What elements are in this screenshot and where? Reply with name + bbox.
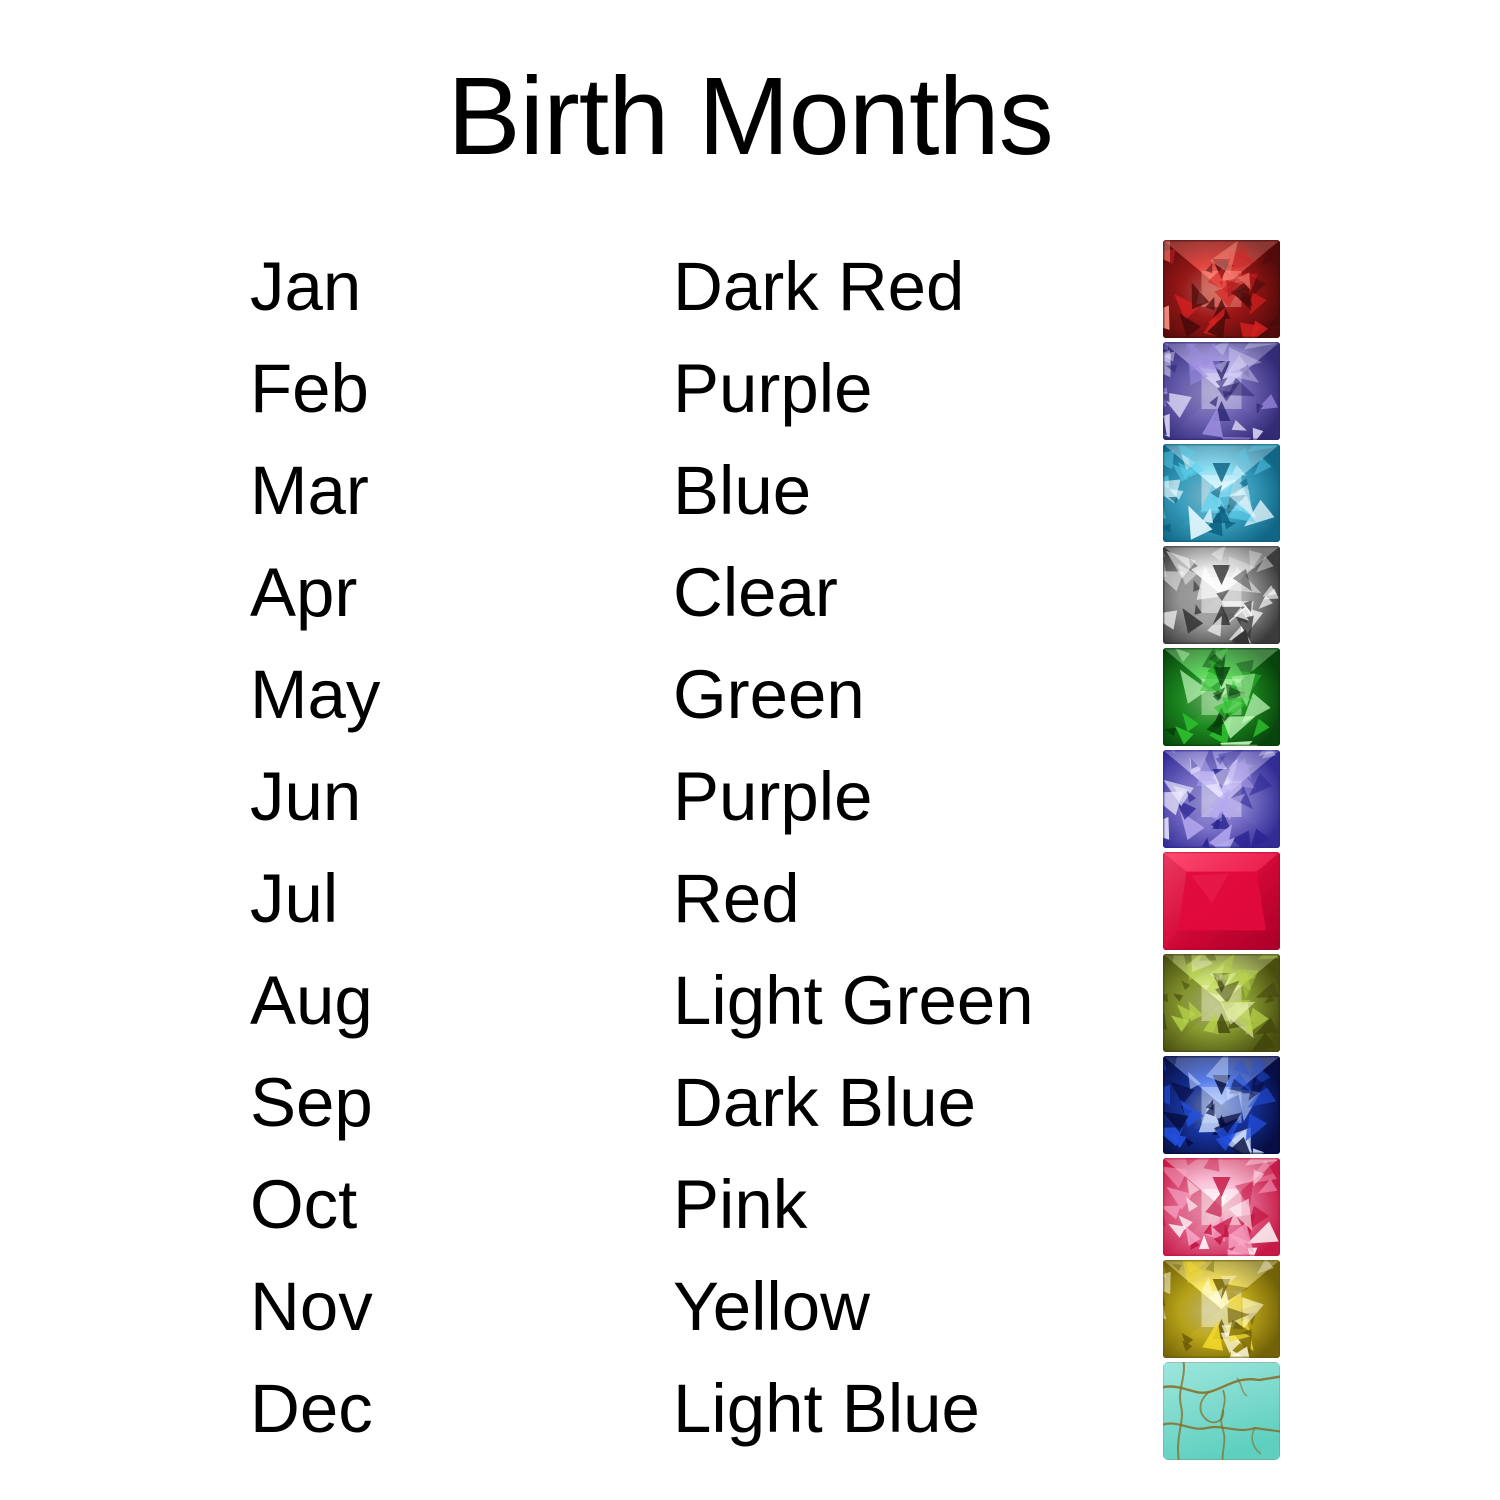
month-label: May — [250, 644, 380, 746]
table-row: JunPurple — [0, 746, 1500, 848]
color-label: Purple — [673, 338, 872, 440]
gem-clear-icon — [1163, 546, 1280, 644]
gem-purple-icon — [1163, 342, 1280, 440]
page-title: Birth Months — [0, 62, 1500, 172]
month-label: Feb — [250, 338, 369, 440]
gem-blue-icon — [1163, 444, 1280, 542]
color-label: Dark Blue — [673, 1052, 976, 1154]
color-label: Yellow — [673, 1256, 870, 1358]
color-label: Light Blue — [673, 1358, 980, 1460]
gem-light-purple-icon — [1163, 750, 1280, 848]
gem-turquoise-icon — [1163, 1362, 1280, 1460]
month-label: Aug — [250, 950, 373, 1052]
gem-green-icon — [1163, 648, 1280, 746]
month-label: Apr — [250, 542, 357, 644]
table-row: JulRed — [0, 848, 1500, 950]
table-row: FebPurple — [0, 338, 1500, 440]
gem-pink-icon — [1163, 1158, 1280, 1256]
table-row: AprClear — [0, 542, 1500, 644]
color-label: Green — [673, 644, 865, 746]
color-label: Blue — [673, 440, 811, 542]
month-label: Oct — [250, 1154, 357, 1256]
month-label: Mar — [250, 440, 369, 542]
month-label: Dec — [250, 1358, 373, 1460]
gem-dark-red-icon — [1163, 240, 1280, 338]
color-label: Purple — [673, 746, 872, 848]
month-label: Sep — [250, 1052, 373, 1154]
birth-months-page: Birth Months JanDark Red FebPurple — [0, 0, 1500, 1500]
color-label: Light Green — [673, 950, 1034, 1052]
color-label: Clear — [673, 542, 838, 644]
gem-yellow-icon — [1163, 1260, 1280, 1358]
gem-peridot-icon — [1163, 954, 1280, 1052]
table-row: JanDark Red — [0, 236, 1500, 338]
gem-dark-blue-icon — [1163, 1056, 1280, 1154]
table-row: MayGreen — [0, 644, 1500, 746]
table-row: OctPink — [0, 1154, 1500, 1256]
table-row: SepDark Blue — [0, 1052, 1500, 1154]
month-label: Nov — [250, 1256, 373, 1358]
color-label: Pink — [673, 1154, 807, 1256]
color-label: Dark Red — [673, 236, 964, 338]
table-row: MarBlue — [0, 440, 1500, 542]
table-row: DecLight Blue — [0, 1358, 1500, 1460]
gem-red-icon — [1163, 852, 1280, 950]
table-row: AugLight Green — [0, 950, 1500, 1052]
month-label: Jun — [250, 746, 361, 848]
month-label: Jan — [250, 236, 361, 338]
month-label: Jul — [250, 848, 338, 950]
birth-months-table: JanDark Red FebPurple — [0, 236, 1500, 1460]
table-row: NovYellow — [0, 1256, 1500, 1358]
color-label: Red — [673, 848, 800, 950]
